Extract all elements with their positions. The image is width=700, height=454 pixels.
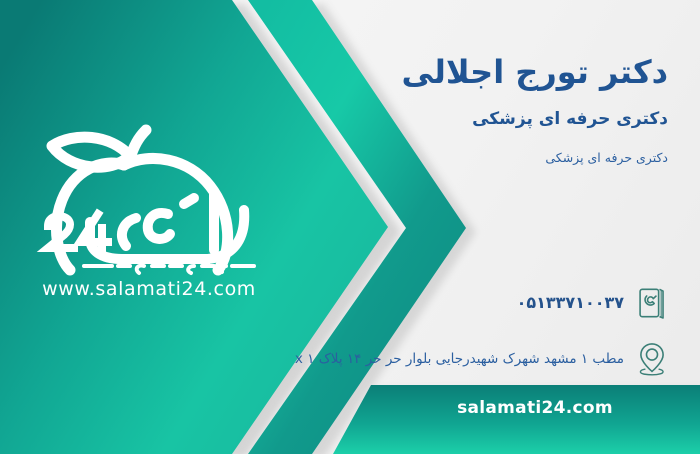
business-card: www.salamati24.com دکتر تورج اجلالی دکتر…	[0, 0, 700, 454]
address-text: مطب ۱ مشهد شهرک شهیدرجایی بلوار حر حر ۱۴…	[242, 350, 632, 368]
contact-list: ۰۵۱۳۳۷۱۰۰۳۷ مطب ۱ مشهد شهرک شهیدرجایی بل…	[242, 282, 672, 394]
logo-artwork	[18, 118, 280, 283]
bottom-website: salamati24.com	[430, 398, 640, 418]
map-pin-icon	[632, 338, 672, 380]
doctor-degree: دکتری حرفه ای پزشکی	[248, 108, 668, 130]
bottom-bar	[333, 385, 700, 454]
contact-row-address: مطب ۱ مشهد شهرک شهیدرجایی بلوار حر حر ۱۴…	[242, 338, 672, 380]
doctor-name: دکتر تورج اجلالی	[248, 52, 668, 92]
phone-number: ۰۵۱۳۳۷۱۰۰۳۷	[242, 292, 632, 314]
doctor-info-block: دکتر تورج اجلالی دکتری حرفه ای پزشکی دکت…	[248, 0, 668, 166]
contact-row-phone: ۰۵۱۳۳۷۱۰۰۳۷	[242, 282, 672, 324]
apple-leaf	[52, 137, 130, 167]
doctor-specialty: دکتری حرفه ای پزشکی	[248, 150, 668, 166]
brand-logo: www.salamati24.com	[18, 118, 280, 308]
logo-website-url: www.salamati24.com	[18, 278, 280, 300]
phone-book-icon	[632, 282, 672, 324]
